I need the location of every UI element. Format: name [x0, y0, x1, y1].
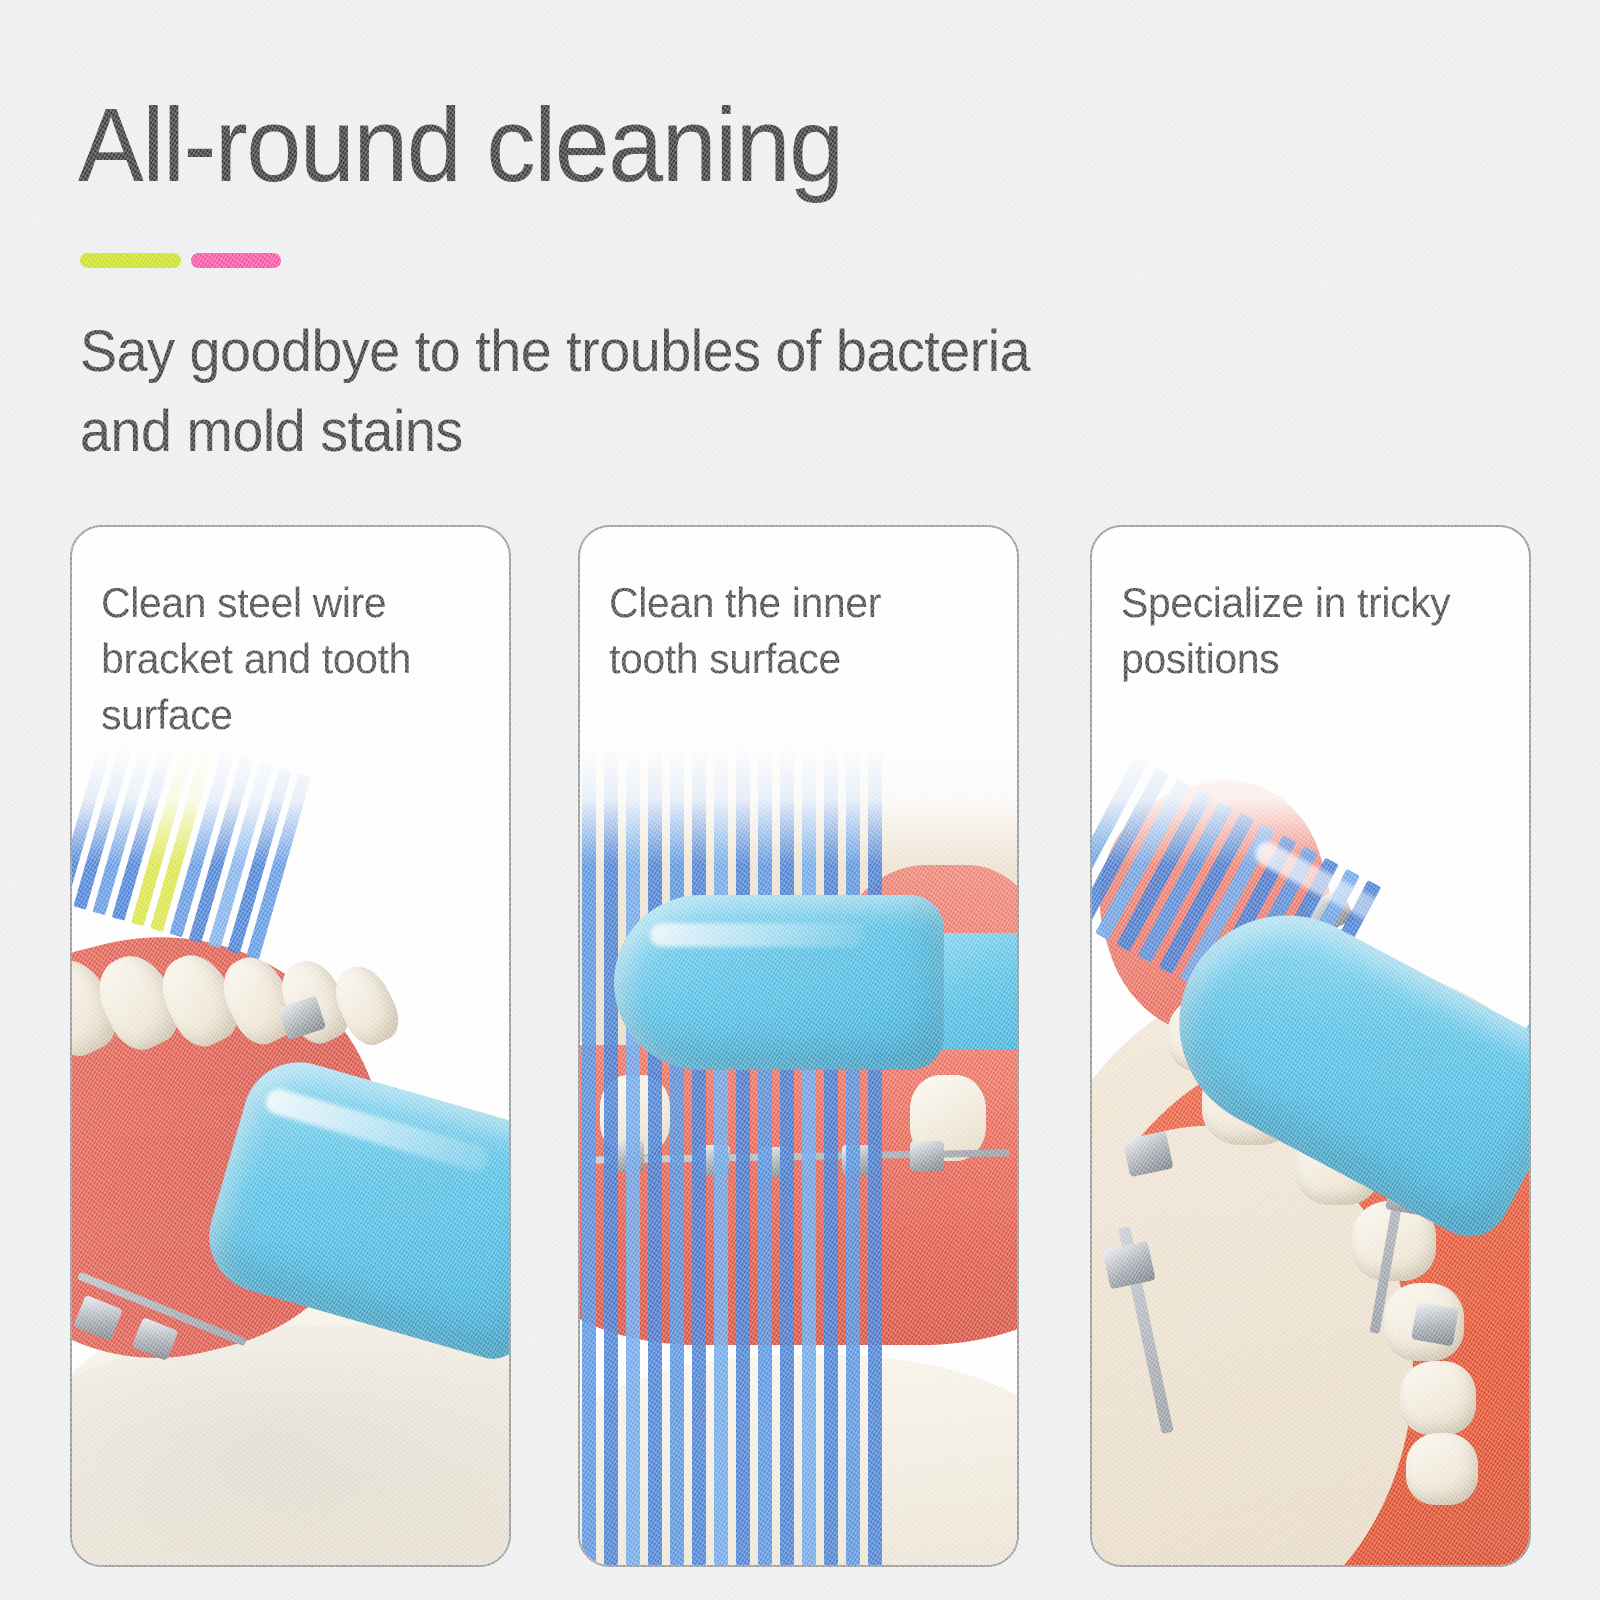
feature-card-clean-inner-tooth-surface[interactable]: Clean the inner tooth surface: [578, 525, 1019, 1567]
card-caption-specialize-in-tricky-positions: Specialize in tricky positions: [1092, 527, 1516, 687]
infographic-page: All-round cleaning Say goodbye to the tr…: [0, 0, 1600, 1600]
card-photo-specialize-in-tricky-positions: [1092, 745, 1529, 1565]
toothbrush-gloss-highlight: [650, 923, 865, 947]
toothbrush-head: [614, 895, 944, 1070]
accent-bar-row: [80, 253, 281, 268]
bracket: [1411, 1302, 1459, 1347]
tooth: [1400, 1361, 1476, 1435]
tooth: [325, 958, 407, 1053]
photo-top-fade: [72, 745, 509, 865]
photo-top-fade: [1092, 745, 1529, 865]
dental-model-base: [580, 1355, 1017, 1565]
feature-card-row: Clean steel wire bracket and tooth surfa…: [0, 525, 1600, 1565]
tooth: [1406, 1433, 1478, 1505]
page-subtitle: Say goodbye to the troubles of bacteria …: [80, 312, 1040, 472]
feature-card-specialize-in-tricky-positions[interactable]: Specialize in tricky positions: [1090, 525, 1531, 1567]
accent-bar-green: [80, 253, 181, 268]
photo-top-fade: [580, 745, 1017, 865]
feature-card-clean-steel-wire-bracket[interactable]: Clean steel wire bracket and tooth surfa…: [70, 525, 511, 1567]
card-caption-clean-steel-wire-bracket: Clean steel wire bracket and tooth surfa…: [72, 527, 496, 743]
card-photo-clean-inner-tooth-surface: [580, 745, 1017, 1565]
page-title: All-round cleaning: [78, 92, 843, 199]
bracket: [910, 1141, 944, 1171]
card-caption-clean-inner-tooth-surface: Clean the inner tooth surface: [580, 527, 1004, 687]
card-photo-clean-steel-wire-bracket: [72, 745, 509, 1565]
model-base-shadow: [72, 1325, 509, 1565]
accent-bar-pink: [191, 253, 281, 268]
